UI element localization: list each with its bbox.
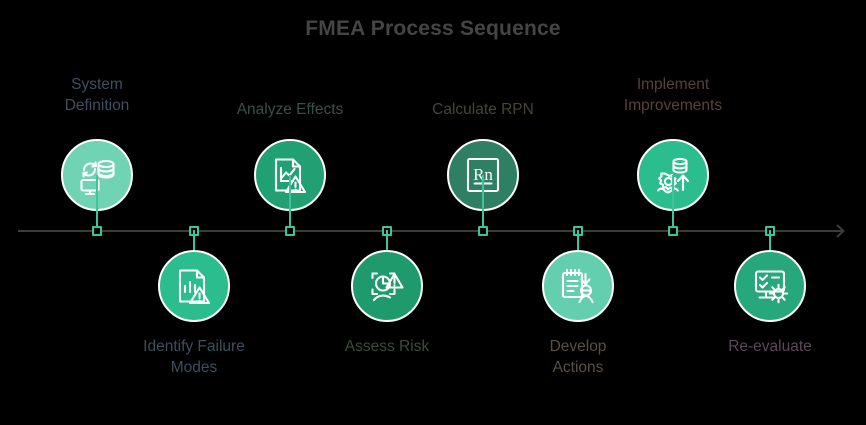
node-label-calculate-rpn: Calculate RPN: [388, 99, 578, 120]
node-stem: [672, 175, 674, 231]
node-marker[interactable]: [668, 226, 678, 236]
chart-title: FMEA Process Sequence: [0, 17, 866, 41]
node-label-identify-failure-modes: Identify Failure Modes: [99, 336, 289, 378]
node-bubble-identify-failure-modes[interactable]: [158, 250, 230, 322]
node-stem: [289, 175, 291, 231]
node-marker[interactable]: [92, 226, 102, 236]
node-label-develop-actions: Develop Actions: [483, 336, 673, 378]
assess-risk-icon: [365, 264, 409, 308]
failure-modes-icon: [172, 264, 216, 308]
node-label-assess-risk: Assess Risk: [292, 336, 482, 357]
re-evaluate-icon: [748, 264, 792, 308]
node-label-analyze-effects: Analyze Effects: [195, 99, 385, 120]
develop-actions-icon: [556, 264, 600, 308]
node-bubble-assess-risk[interactable]: [351, 250, 423, 322]
node-bubble-re-evaluate[interactable]: [734, 250, 806, 322]
timeline-chart: FMEA Process Sequence System Definition: [0, 0, 866, 425]
node-marker[interactable]: [478, 226, 488, 236]
node-marker[interactable]: [285, 226, 295, 236]
node-label-implement-improvements: Implement Improvements: [578, 74, 768, 116]
timeline-axis: [18, 230, 838, 232]
node-label-system-definition: System Definition: [2, 74, 192, 116]
node-bubble-develop-actions[interactable]: [542, 250, 614, 322]
node-label-re-evaluate: Re-evaluate: [675, 336, 865, 357]
node-stem: [482, 175, 484, 231]
node-stem: [96, 175, 98, 231]
axis-arrow-icon: [828, 222, 846, 240]
